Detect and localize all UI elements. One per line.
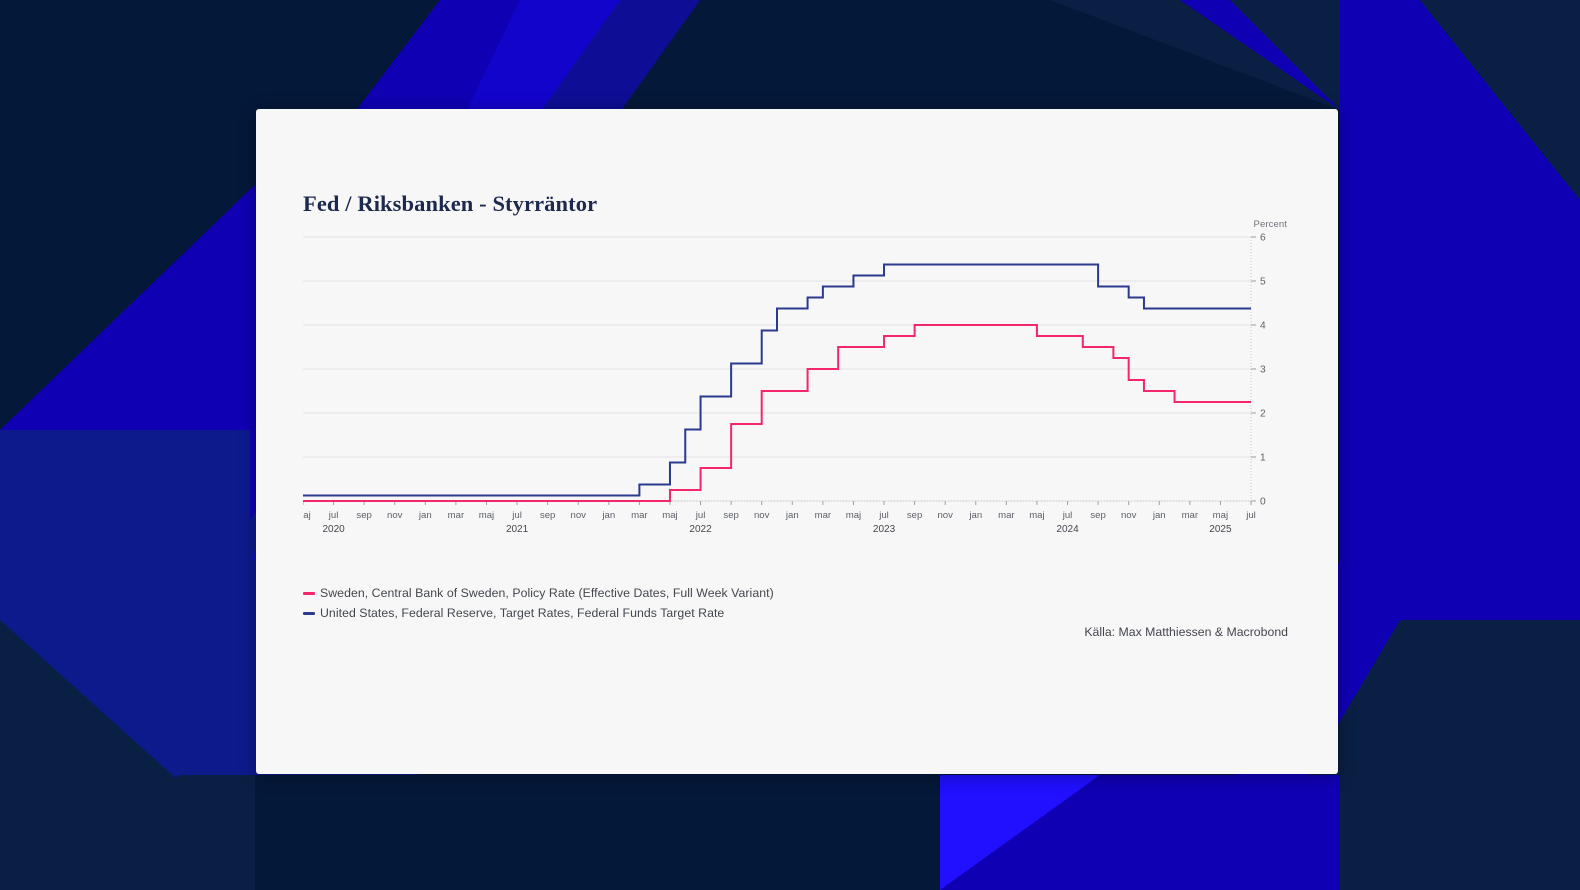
x-axis-tick-label: jan [418, 510, 432, 521]
x-axis-tick-label: jul [878, 510, 889, 521]
chart-card: Fed / Riksbanken - Styrräntor Percent 01… [256, 109, 1338, 774]
legend-swatch-sweden [303, 592, 315, 595]
legend-item-united-states[interactable]: United States, Federal Reserve, Target R… [303, 603, 1063, 623]
x-axis-tick-label: jan [785, 510, 799, 521]
step-line-chart: 0123456 majjulsepnovjanmarmajjulsepnovja… [303, 219, 1293, 559]
x-axis-tick-label: mar [1182, 510, 1199, 521]
page-title: Fed / Riksbanken - Styrräntor [303, 191, 597, 217]
x-axis-tick-label: mar [448, 510, 465, 521]
x-axis-year-label: 2025 [1209, 524, 1232, 535]
series-line-fed [303, 265, 1251, 496]
x-axis-tick-label: maj [662, 510, 677, 521]
y-axis-tick-label: 0 [1260, 497, 1266, 508]
x-axis-year-label: 2023 [873, 524, 896, 535]
y-axis-tick-label: 6 [1260, 233, 1266, 244]
y-axis-tick-label: 1 [1260, 453, 1266, 464]
x-axis-tick-label: mar [815, 510, 832, 521]
data-series-group [303, 265, 1251, 502]
x-axis-tick-label: sep [540, 510, 555, 521]
y-axis-ticks-group: 0123456 [1251, 233, 1266, 508]
x-axis-tick-label: mar [998, 510, 1015, 521]
x-axis-tick-label: jul [328, 510, 339, 521]
x-axis-year-label: 2020 [322, 524, 345, 535]
x-axis-tick-label: jul [1245, 510, 1256, 521]
x-axis-ticks-group: majjulsepnovjanmarmajjulsepnovjanmarmajj… [303, 501, 1256, 535]
source-attribution: Källa: Max Matthiessen & Macrobond [1084, 625, 1288, 639]
x-axis-tick-label: maj [479, 510, 494, 521]
x-axis-tick-label: nov [1121, 510, 1137, 521]
x-axis-tick-label: nov [570, 510, 586, 521]
x-axis-tick-label: maj [303, 510, 311, 521]
x-axis-tick-label: nov [754, 510, 770, 521]
x-axis-tick-label: maj [846, 510, 861, 521]
x-axis-tick-label: maj [1029, 510, 1044, 521]
x-axis-tick-label: jan [601, 510, 615, 521]
x-axis-year-label: 2022 [689, 524, 712, 535]
legend-item-sweden[interactable]: Sweden, Central Bank of Sweden, Policy R… [303, 583, 1063, 603]
x-axis-tick-label: sep [356, 510, 371, 521]
chart-legend: Sweden, Central Bank of Sweden, Policy R… [303, 583, 1063, 623]
legend-label-united-states: United States, Federal Reserve, Target R… [320, 606, 724, 620]
x-axis-tick-label: jan [1152, 510, 1166, 521]
background-shape-bottom-left-dark [255, 775, 940, 890]
chart-plot-area: Percent 0123456 majjulsepnovjanmarmajjul… [303, 219, 1293, 559]
y-axis-tick-label: 4 [1260, 321, 1266, 332]
y-axis-tick-label: 2 [1260, 409, 1266, 420]
x-axis-tick-label: sep [907, 510, 922, 521]
x-axis-tick-label: sep [1090, 510, 1105, 521]
legend-label-sweden: Sweden, Central Bank of Sweden, Policy R… [320, 586, 774, 600]
x-axis-tick-label: nov [937, 510, 953, 521]
x-axis-tick-label: jan [968, 510, 982, 521]
y-axis-unit-label: Percent [1254, 219, 1287, 230]
legend-swatch-united-states [303, 612, 315, 615]
x-axis-tick-label: nov [387, 510, 403, 521]
y-axis-tick-label: 3 [1260, 365, 1266, 376]
x-axis-year-label: 2024 [1056, 524, 1079, 535]
x-axis-tick-label: maj [1213, 510, 1228, 521]
x-axis-tick-label: jul [511, 510, 522, 521]
y-axis-tick-label: 5 [1260, 277, 1266, 288]
x-axis-tick-label: jul [1062, 510, 1073, 521]
x-axis-tick-label: jul [695, 510, 706, 521]
x-axis-tick-label: sep [723, 510, 738, 521]
x-axis-tick-label: mar [631, 510, 648, 521]
gridlines-group [303, 237, 1251, 501]
x-axis-year-label: 2021 [506, 524, 529, 535]
